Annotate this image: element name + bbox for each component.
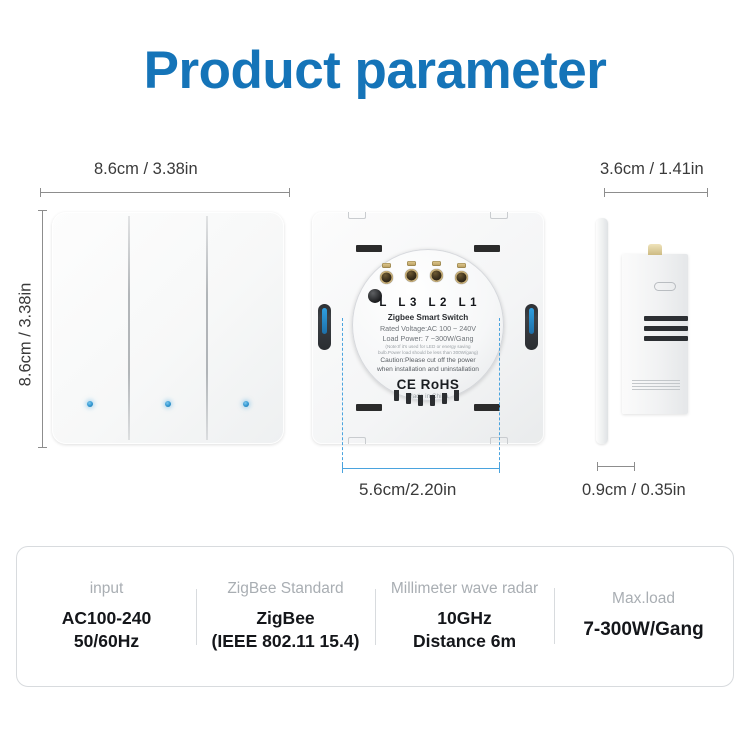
spec-column-max-load: Max.load 7-300W/Gang — [554, 590, 733, 642]
switch-side-view — [596, 212, 716, 447]
wire-terminal-l1 — [455, 271, 468, 284]
module-width-dimension-label: 5.6cm/2.20in — [359, 480, 456, 500]
terminal-screw-1 — [382, 263, 391, 268]
gang-divider-2 — [206, 216, 208, 440]
contact-pin — [418, 395, 423, 406]
spec-value: AC100-240 50/60Hz — [23, 607, 190, 653]
module-width-extension-right — [499, 318, 500, 470]
specification-table: input AC100-240 50/60Hz ZigBee Standard … — [16, 546, 734, 687]
module-width-extension-left — [342, 318, 343, 470]
spec-column-input: input AC100-240 50/60Hz — [17, 580, 196, 653]
spec-value-line: 7-300W/Gang — [560, 617, 727, 642]
body-vent-slot — [644, 316, 688, 321]
spec-value-line: 10GHz — [381, 607, 548, 630]
module-origin-text: Made in China — [352, 393, 504, 400]
contact-pin — [430, 395, 435, 406]
terminal-screw-3 — [432, 261, 441, 266]
wire-terminal-l2 — [430, 269, 443, 282]
body-fine-lines — [632, 380, 680, 392]
switch-front-view — [52, 212, 284, 444]
wire-terminal-l — [380, 271, 393, 284]
wire-terminal-l3 — [405, 269, 418, 282]
plate-thickness-dimension-line — [597, 466, 635, 467]
gang-led-indicator-1 — [87, 401, 93, 407]
switch-module: L L3 L2 L1 Zigbee Smart Switch Rated Vol… — [352, 249, 504, 401]
wall-clip-right — [525, 304, 538, 350]
certification-marks: CE RoHS — [352, 377, 504, 392]
switch-back-view: L L3 L2 L1 Zigbee Smart Switch Rated Vol… — [312, 212, 544, 444]
spec-value-line: (IEEE 802.11 15.4) — [202, 630, 369, 653]
faceplate-edge — [596, 218, 608, 444]
plate-thickness-dimension-label: 0.9cm / 0.35in — [582, 481, 686, 500]
terminal-labels: L L3 L2 L1 — [352, 297, 504, 309]
mount-slot-top-right — [474, 245, 500, 252]
mount-slot-bottom-left — [356, 404, 382, 411]
spec-value-line: 50/60Hz — [23, 630, 190, 653]
spec-column-zigbee-standard: ZigBee Standard ZigBee (IEEE 802.11 15.4… — [196, 580, 375, 653]
gang-divider-1 — [128, 216, 130, 440]
gang-led-indicator-3 — [243, 401, 249, 407]
spec-value-line: AC100-240 — [23, 607, 190, 630]
spec-label: Millimeter wave radar — [381, 580, 548, 598]
terminal-screw-2 — [407, 261, 416, 266]
module-caution-line-1: Caution:Please cut off the power — [356, 357, 500, 364]
spec-value: 10GHz Distance 6m — [381, 607, 548, 653]
contact-pin — [406, 393, 411, 404]
mount-notch-top-left — [348, 212, 366, 219]
module-note-line-1: (Note:If it's used for LED or energy sav… — [356, 344, 500, 349]
contact-pin — [442, 393, 447, 404]
spec-label: input — [23, 580, 190, 598]
mount-notch-bottom-left — [348, 437, 366, 444]
mount-slot-top-left — [356, 245, 382, 252]
mount-notch-top-right — [490, 212, 508, 219]
module-caution-line-2: when installation and uninstallation — [356, 366, 500, 373]
spec-value: 7-300W/Gang — [560, 617, 727, 642]
spec-column-millimeter-wave-radar: Millimeter wave radar 10GHz Distance 6m — [375, 580, 554, 653]
front-width-dimension-label: 8.6cm / 3.38in — [94, 160, 198, 179]
wall-clip-left — [318, 304, 331, 350]
spec-label: Max.load — [560, 590, 727, 608]
spec-value: ZigBee (IEEE 802.11 15.4) — [202, 607, 369, 653]
terminal-screw-4 — [457, 263, 466, 268]
module-load-power-text: Load Power: 7 ~300W/Gang — [356, 334, 500, 343]
side-depth-dimension-label: 3.6cm / 1.41in — [600, 160, 704, 179]
spec-label: ZigBee Standard — [202, 580, 369, 598]
body-vent-slot — [644, 326, 688, 331]
contact-pin — [454, 390, 459, 401]
front-height-dimension-label: 8.6cm / 3.38in — [16, 283, 35, 387]
body-tab — [654, 282, 676, 291]
gang-led-indicator-2 — [165, 401, 171, 407]
mount-screw-top — [648, 244, 662, 255]
module-rated-voltage-text: Rated Voltage:AC 100 ~ 240V — [356, 324, 500, 333]
mount-slot-bottom-right — [474, 404, 500, 411]
module-brand-text: Zigbee Smart Switch — [356, 313, 500, 322]
module-note-line-2: bulb.Power load should be less than 300W… — [356, 350, 500, 355]
front-width-dimension-line — [40, 192, 290, 193]
contact-pin — [394, 390, 399, 401]
spec-value-line: Distance 6m — [381, 630, 548, 653]
side-depth-dimension-line — [604, 192, 708, 193]
module-width-dimension-line — [342, 468, 500, 469]
spec-value-line: ZigBee — [202, 607, 369, 630]
page-title: Product parameter — [0, 40, 750, 101]
body-vent-slot — [644, 336, 688, 341]
front-height-dimension-line — [42, 210, 43, 448]
